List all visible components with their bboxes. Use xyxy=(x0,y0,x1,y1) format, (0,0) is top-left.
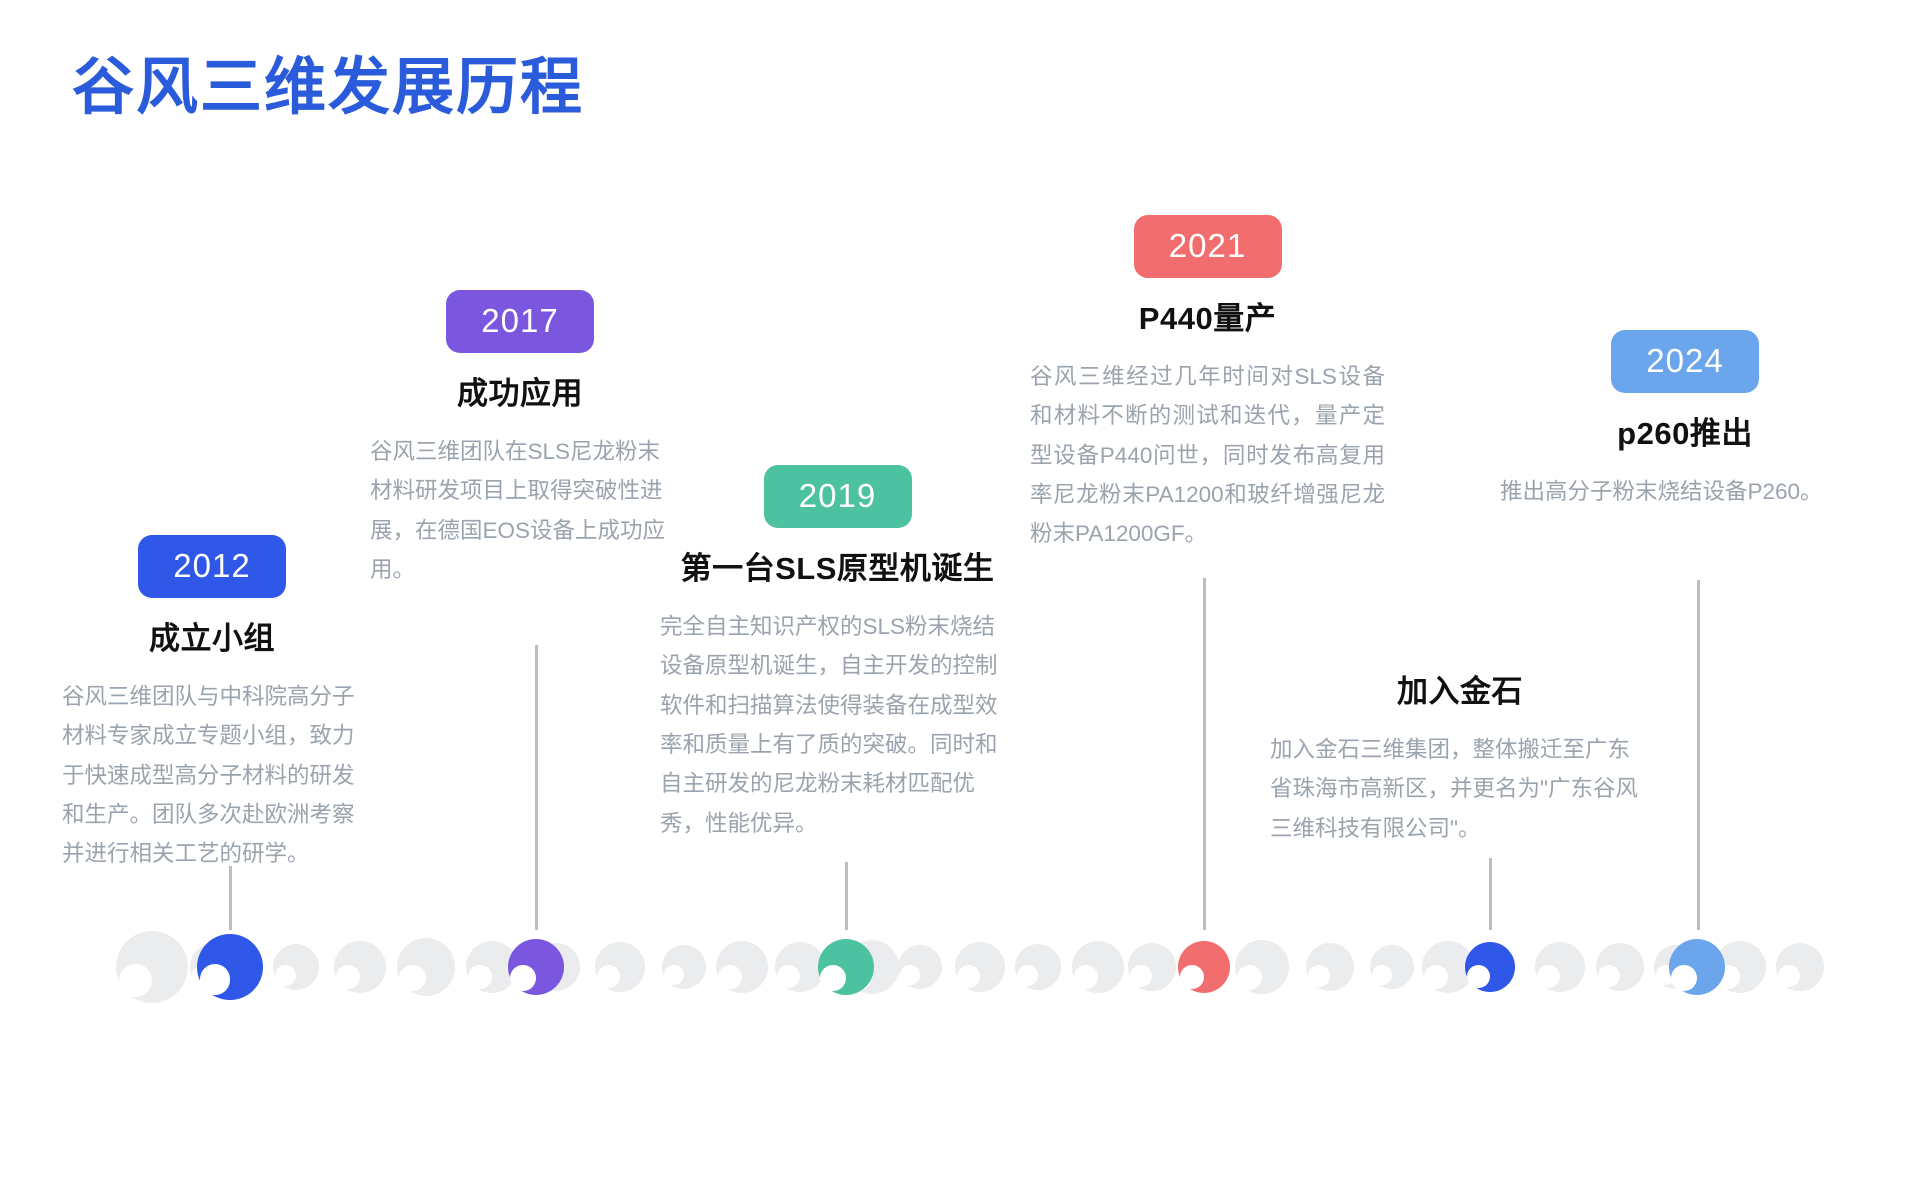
year-badge-row-2021: 2021 xyxy=(1030,215,1385,278)
milestone-title-2023: 加入金石 xyxy=(1270,673,1650,712)
decor-circle xyxy=(1306,943,1354,991)
connector-stem-2017 xyxy=(535,645,538,930)
decor-circle-notch xyxy=(510,965,536,991)
milestone-title-2021: P440量产 xyxy=(1030,300,1385,339)
decor-circle xyxy=(1128,943,1176,991)
decor-circle-notch xyxy=(777,965,800,988)
decor-circle xyxy=(1015,944,1061,990)
decor-circle-notch xyxy=(1017,965,1038,986)
decor-circle xyxy=(595,942,645,992)
decor-circle-notch xyxy=(1598,965,1620,987)
milestone-body-2024: 推出高分子粉末烧结设备P260。 xyxy=(1500,472,1870,511)
milestone-2012[interactable]: 2012 成立小组 谷风三维团队与中科院高分子材料专家成立专题小组，致力于快速成… xyxy=(62,535,362,874)
milestone-body-2017: 谷风三维团队在SLS尼龙粉末材料研发项目上取得突破性进展，在德国EOS设备上成功… xyxy=(370,432,670,590)
decor-circle-notch xyxy=(1778,965,1800,987)
decor-circle xyxy=(1535,942,1585,992)
decor-circle xyxy=(116,931,188,1003)
connector-stem-2021 xyxy=(1203,578,1206,930)
decor-accent-circle xyxy=(818,939,874,995)
decor-accent-circle xyxy=(1669,939,1725,995)
decor-circle xyxy=(1235,940,1289,994)
decor-circle-notch xyxy=(1308,965,1330,987)
decor-accent-circle xyxy=(197,934,263,1000)
year-badge-2021[interactable]: 2021 xyxy=(1134,215,1282,278)
decor-accent-circle xyxy=(1178,941,1230,993)
milestone-title-2017: 成功应用 xyxy=(370,375,670,414)
decor-circle xyxy=(898,945,942,989)
decor-circle xyxy=(662,945,706,989)
decor-circle-notch xyxy=(399,965,426,992)
year-badge-row-2019: 2019 xyxy=(660,465,1015,528)
milestone-2023[interactable]: 2023 加入金石 加入金石三维集团，整体搬迁至广东省珠海市高新区，并更名为"广… xyxy=(1270,588,1650,848)
year-badge-row-2012: 2012 xyxy=(62,535,362,598)
year-badge-2019[interactable]: 2019 xyxy=(764,465,912,528)
decor-circle-notch xyxy=(1467,965,1490,988)
milestone-2019[interactable]: 2019 第一台SLS原型机诞生 完全自主知识产权的SLS粉末烧结设备原型机诞生… xyxy=(660,465,1015,843)
decor-circle-notch xyxy=(468,965,492,989)
decor-circle-notch xyxy=(1537,965,1560,988)
decor-circle xyxy=(1776,943,1824,991)
decor-circle xyxy=(716,941,768,993)
decor-circle-notch xyxy=(1074,965,1098,989)
decor-circle xyxy=(273,944,319,990)
decor-circle-notch xyxy=(718,965,742,989)
year-badge-row-2023: 2023 xyxy=(1270,588,1650,651)
milestone-title-2019: 第一台SLS原型机诞生 xyxy=(660,550,1015,589)
year-badge-2017[interactable]: 2017 xyxy=(446,290,594,353)
decor-circle xyxy=(1596,943,1644,991)
decorative-circle-strip xyxy=(0,905,1931,1015)
decor-circle-notch xyxy=(664,965,684,985)
decor-circle-notch xyxy=(597,965,620,988)
decor-circle xyxy=(397,938,455,996)
decor-circle-notch xyxy=(1237,965,1262,990)
decor-circle xyxy=(1072,941,1124,993)
year-badge-row-2017: 2017 xyxy=(370,290,670,353)
milestone-2021[interactable]: 2021 P440量产 谷风三维经过几年时间对SLS设备和材料不断的测试和迭代，… xyxy=(1030,215,1385,554)
milestone-title-2024: p260推出 xyxy=(1500,415,1870,454)
decor-accent-circle xyxy=(508,939,564,995)
decor-circle-notch xyxy=(1671,965,1697,991)
decor-circle-notch xyxy=(1130,965,1152,987)
decor-circle xyxy=(334,941,386,993)
milestone-body-2021: 谷风三维经过几年时间对SLS设备和材料不断的测试和迭代，量产定型设备P440问世… xyxy=(1030,357,1385,554)
decor-circle-notch xyxy=(275,965,296,986)
decor-circle-notch xyxy=(900,965,920,985)
decor-circle-notch xyxy=(200,964,230,994)
decor-circle-notch xyxy=(1372,965,1392,985)
decor-accent-circle xyxy=(1465,942,1515,992)
milestone-body-2012: 谷风三维团队与中科院高分子材料专家成立专题小组，致力于快速成型高分子材料的研发和… xyxy=(62,677,362,874)
milestone-2024[interactable]: 2024 p260推出 推出高分子粉末烧结设备P260。 xyxy=(1500,330,1870,511)
page-title: 谷风三维发展历程 xyxy=(72,52,584,123)
milestone-2017[interactable]: 2017 成功应用 谷风三维团队在SLS尼龙粉末材料研发项目上取得突破性进展，在… xyxy=(370,290,670,589)
decor-circle-notch xyxy=(1180,965,1204,989)
decor-circle xyxy=(1370,945,1414,989)
decor-circle xyxy=(955,942,1005,992)
decor-circle-notch xyxy=(336,965,360,989)
year-badge-2024[interactable]: 2024 xyxy=(1611,330,1759,393)
decor-circle-notch xyxy=(957,965,980,988)
milestone-title-2012: 成立小组 xyxy=(62,620,362,659)
milestone-body-2019: 完全自主知识产权的SLS粉末烧结设备原型机诞生，自主开发的控制软件和扫描算法使得… xyxy=(660,607,1015,843)
year-badge-row-2024: 2024 xyxy=(1500,330,1870,393)
milestone-body-2023: 加入金石三维集团，整体搬迁至广东省珠海市高新区，并更名为"广东谷风三维科技有限公… xyxy=(1270,730,1650,848)
decor-circle-notch xyxy=(1424,965,1448,989)
connector-stem-2024 xyxy=(1697,580,1700,930)
decor-circle-notch xyxy=(119,964,152,997)
decor-circle-notch xyxy=(820,965,846,991)
year-badge-2023[interactable]: 2023 xyxy=(1386,588,1534,651)
year-badge-2012[interactable]: 2012 xyxy=(138,535,286,598)
